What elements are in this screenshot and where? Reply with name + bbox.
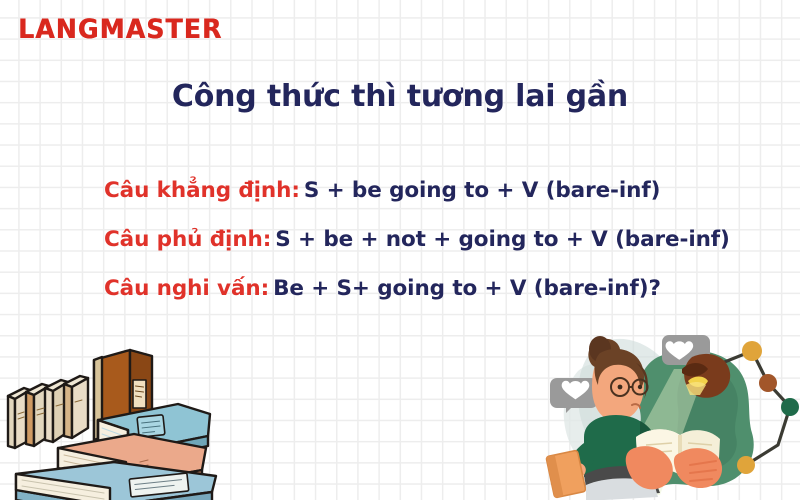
- formula-row-interrogative: Câu nghi vấn:Be + S+ going to + V (bare-…: [104, 264, 784, 313]
- formula-label-interrogative: Câu nghi vấn:: [104, 276, 269, 301]
- heart-bubble-left: [550, 378, 598, 413]
- formula-body-affirmative: S + be going to + V (bare-inf): [304, 178, 661, 203]
- formula-row-affirmative: Câu khẳng định:S + be going to + V (bare…: [104, 166, 784, 215]
- girl-reading-scene-icon: [540, 325, 800, 500]
- stack-of-books-icon: [2, 336, 227, 500]
- page-title: Công thức thì tương lai gần: [0, 79, 800, 115]
- books-illustration: [2, 336, 227, 500]
- formula-row-negative: Câu phủ định:S + be + not + going to + V…: [104, 215, 784, 264]
- formula-body-negative: S + be + not + going to + V (bare-inf): [275, 227, 730, 252]
- formula-label-negative: Câu phủ định:: [104, 227, 271, 252]
- slide-canvas: LANGMASTER Công thức thì tương lai gần C…: [0, 0, 800, 500]
- leaning-books-row: [8, 376, 88, 448]
- formula-body-interrogative: Be + S+ going to + V (bare-inf)?: [273, 276, 661, 301]
- formula-list: Câu khẳng định:S + be going to + V (bare…: [104, 166, 784, 313]
- langmaster-logo: LANGMASTER: [18, 16, 222, 43]
- girl-reading-illustration: [540, 325, 800, 500]
- formula-label-affirmative: Câu khẳng định:: [104, 178, 300, 203]
- desk-lamp: [682, 354, 730, 398]
